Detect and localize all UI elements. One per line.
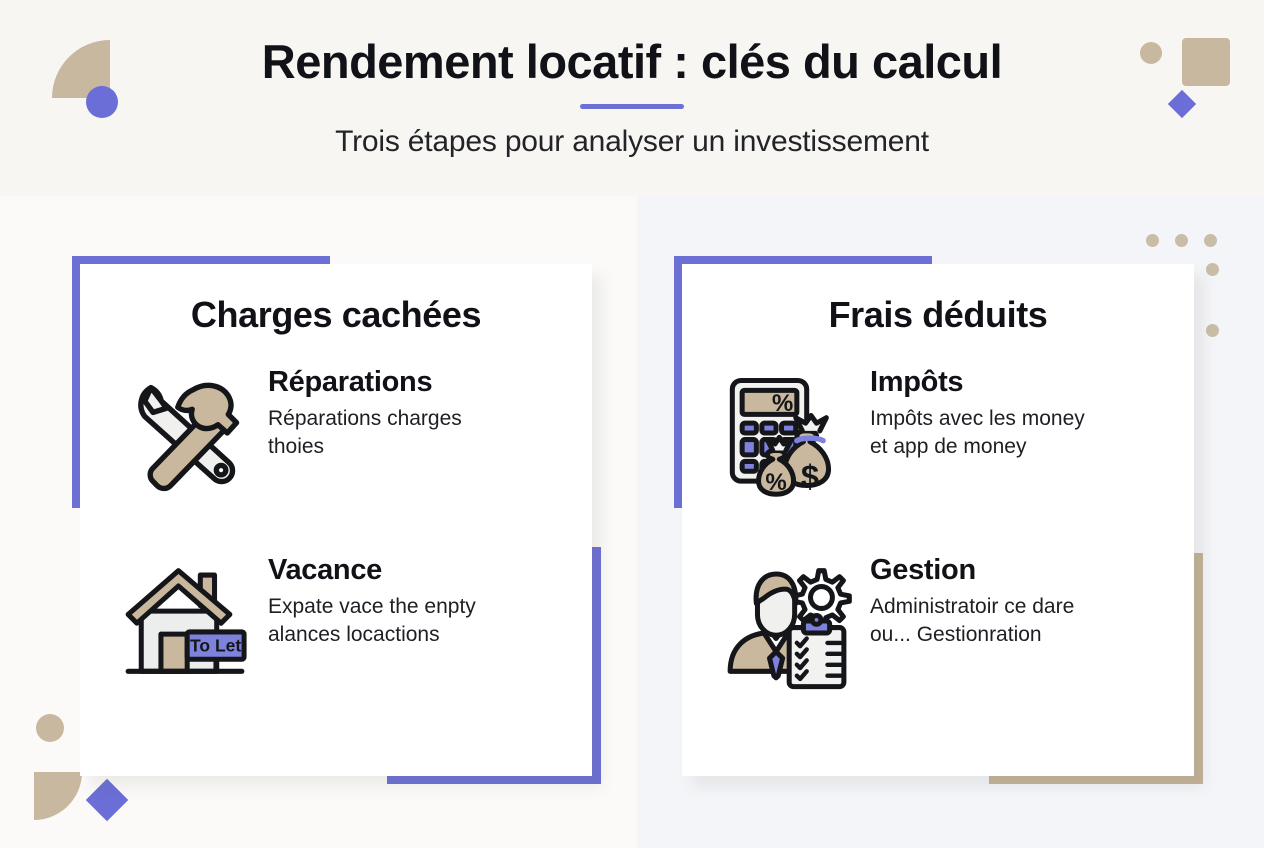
item-heading: Vacance (268, 554, 566, 587)
purple-circle-top-left (86, 86, 118, 118)
card-items: Réparations Réparations charges thoies (80, 358, 592, 696)
list-item[interactable]: Réparations Réparations charges thoies (80, 358, 592, 508)
tan-dot-1 (1146, 234, 1159, 247)
right-card-accent-bottom-right-horizontal (989, 775, 1203, 784)
item-text: Vacance Expate vace the enpty alances lo… (260, 546, 566, 650)
money-bag-percent-label: % (765, 469, 786, 496)
calculator-percent-label: % (772, 390, 793, 417)
card-charges-cachees[interactable]: Charges cachées (80, 264, 592, 776)
item-body: Réparations charges thoies (268, 405, 483, 461)
manager-gear-clipboard-icon (712, 546, 862, 696)
item-body: Expate vace the enpty alances locactions (268, 593, 483, 649)
list-item[interactable]: Gestion Administratoir ce dare ou... Ges… (682, 546, 1194, 696)
card-title: Frais déduits (682, 264, 1194, 336)
page-title: Rendement locatif : clés du calcul (262, 37, 1002, 86)
tan-circle-top-right (1140, 42, 1162, 64)
tan-dot-2 (1175, 234, 1188, 247)
item-text: Impôts Impôts avec les money et app de m… (862, 358, 1168, 462)
tan-dot-3 (1204, 234, 1217, 247)
right-card-accent-bottom-right-vertical (1194, 553, 1203, 784)
infographic-canvas: Rendement locatif : clés du calcul Trois… (0, 0, 1264, 848)
item-heading: Impôts (870, 366, 1168, 399)
wrench-hammer-icon (110, 358, 260, 508)
list-item[interactable]: % $ % Impôts Impôts avec les money et ap… (682, 358, 1194, 508)
header: Rendement locatif : clés du calcul Trois… (0, 0, 1264, 196)
item-text: Réparations Réparations charges thoies (260, 358, 566, 462)
left-card-accent-bottom-right-vertical (592, 547, 601, 784)
house-to-let-icon: To Let (110, 546, 260, 696)
tan-circle-bottom-left (36, 714, 64, 742)
item-text: Gestion Administratoir ce dare ou... Ges… (862, 546, 1168, 650)
item-body: Impôts avec les money et app de money (870, 405, 1085, 461)
card-title: Charges cachées (80, 264, 592, 336)
tan-dot-4 (1206, 263, 1219, 276)
item-heading: Gestion (870, 554, 1168, 587)
list-item[interactable]: To Let Vacance Expate vace the enpty ala… (80, 546, 592, 696)
item-body: Administratoir ce dare ou... Gestionrati… (870, 593, 1085, 649)
item-heading: Réparations (268, 366, 566, 399)
money-bag-dollar-label: $ (801, 458, 819, 495)
to-let-sign-label: To Let (190, 636, 241, 656)
left-card-accent-bottom-right-horizontal (387, 775, 601, 784)
title-divider (580, 104, 684, 109)
tan-square-top-right (1182, 38, 1230, 86)
card-frais-deduits[interactable]: Frais déduits (682, 264, 1194, 776)
card-items: % $ % Impôts Impôts avec les money et ap… (682, 358, 1194, 696)
tan-dot-5 (1206, 324, 1219, 337)
calculator-money-bags-icon: % $ % (712, 358, 862, 508)
page-subtitle: Trois étapes pour analyser un investisse… (335, 125, 929, 159)
